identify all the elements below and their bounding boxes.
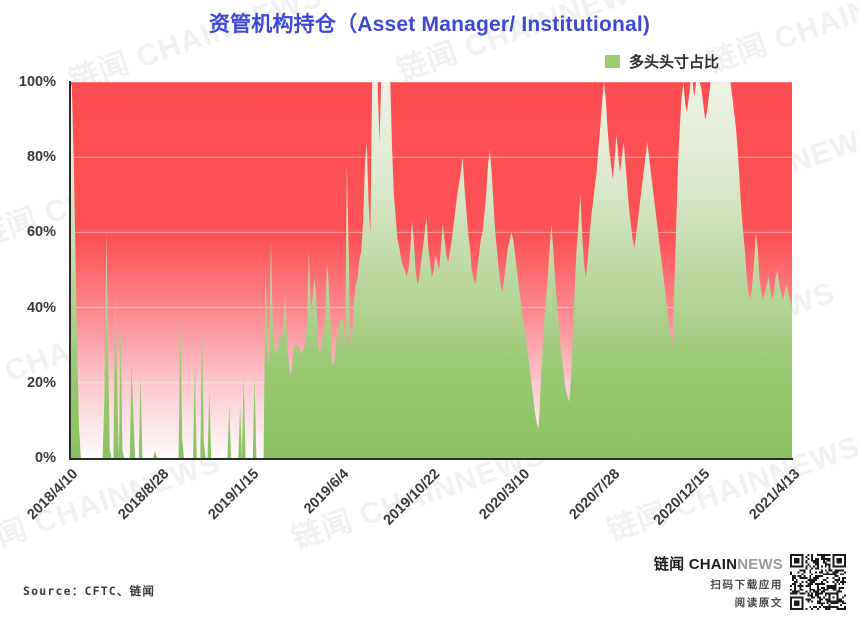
qr-code[interactable] xyxy=(790,554,846,610)
footer-brand: 链闻 CHAINNEWS 扫码下载应用 阅读原文 xyxy=(648,556,783,611)
x-axis-tick-label: 2020/3/10 xyxy=(381,466,534,619)
x-axis-labels: 2018/4/102018/8/282019/1/152019/6/42019/… xyxy=(0,0,859,620)
x-axis-tick-label: 2020/7/28 xyxy=(471,466,624,619)
legend-square-icon xyxy=(605,55,620,68)
brand-en-dark: CHAIN xyxy=(689,556,738,573)
chart-legend: 多头头寸占比 xyxy=(605,51,719,72)
qr-code-icon xyxy=(790,554,846,610)
brand-tagline-download: 扫码下载应用 xyxy=(648,577,783,593)
legend-label: 多头头寸占比 xyxy=(629,51,719,72)
brand-cn: 链闻 xyxy=(654,556,684,573)
brand-en-light: NEWS xyxy=(737,556,783,573)
x-axis-tick-label: 2019/6/4 xyxy=(200,466,353,619)
brand-wordmark: 链闻 CHAINNEWS xyxy=(648,556,783,575)
x-axis-tick-label: 2019/10/22 xyxy=(290,466,443,619)
brand-tagline-readmore[interactable]: 阅读原文 xyxy=(648,595,783,611)
chart-title: 资管机构持仓（Asset Manager/ Institutional) xyxy=(0,8,859,38)
source-note: Source：CFTC、链闻 xyxy=(23,583,155,599)
